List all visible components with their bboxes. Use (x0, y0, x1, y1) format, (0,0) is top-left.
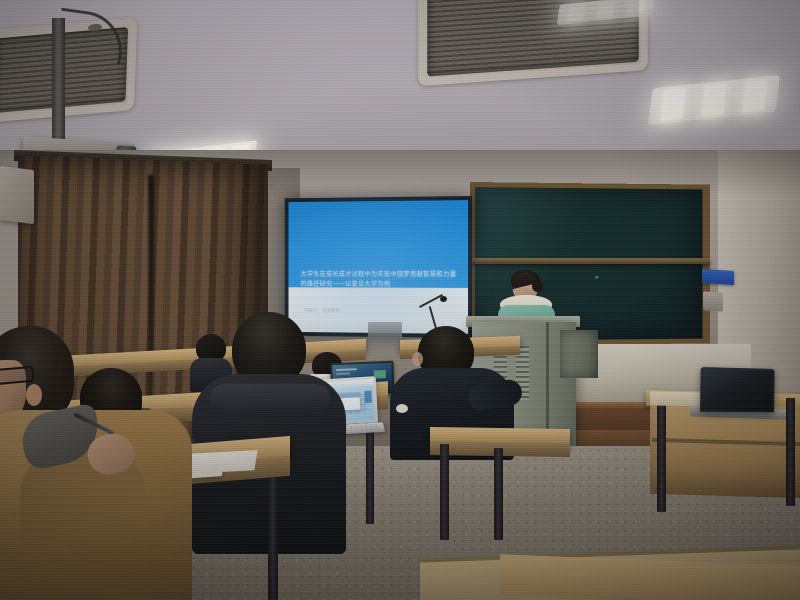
projector-mount-pole (52, 18, 65, 148)
chalk-rail (470, 258, 710, 264)
desk-object (396, 404, 408, 413)
presenter-hair-bun (532, 280, 543, 292)
desk-leg (268, 478, 278, 600)
papers (184, 450, 257, 474)
ear (26, 384, 42, 406)
classroom-photo: 大学生在成长成才过程中为实现中国梦贡献智慧和力量的路径研究——以复旦大学为例 答… (0, 0, 800, 600)
audience-foreground-left (0, 326, 186, 600)
desk-leg (786, 398, 795, 506)
desk-leg (657, 400, 666, 512)
wall-speaker-icon (0, 166, 34, 224)
ear (412, 352, 423, 366)
laptop-right (700, 367, 775, 412)
wall-outlet-icon (703, 291, 723, 311)
coat-fold (20, 446, 146, 600)
microphone-icon (440, 296, 447, 302)
shoulder-highlight (210, 384, 330, 412)
desk-leg (440, 444, 449, 540)
lectern-shelf (560, 330, 598, 378)
desk-leg (494, 448, 503, 540)
audience-right (396, 326, 508, 502)
wall-sign (702, 269, 734, 285)
laptop-right-screen (702, 369, 773, 410)
slide-title: 大学生在成长成才过程中为实现中国梦贡献智慧和力量的路径研究——以复旦大学为例 (301, 270, 459, 290)
